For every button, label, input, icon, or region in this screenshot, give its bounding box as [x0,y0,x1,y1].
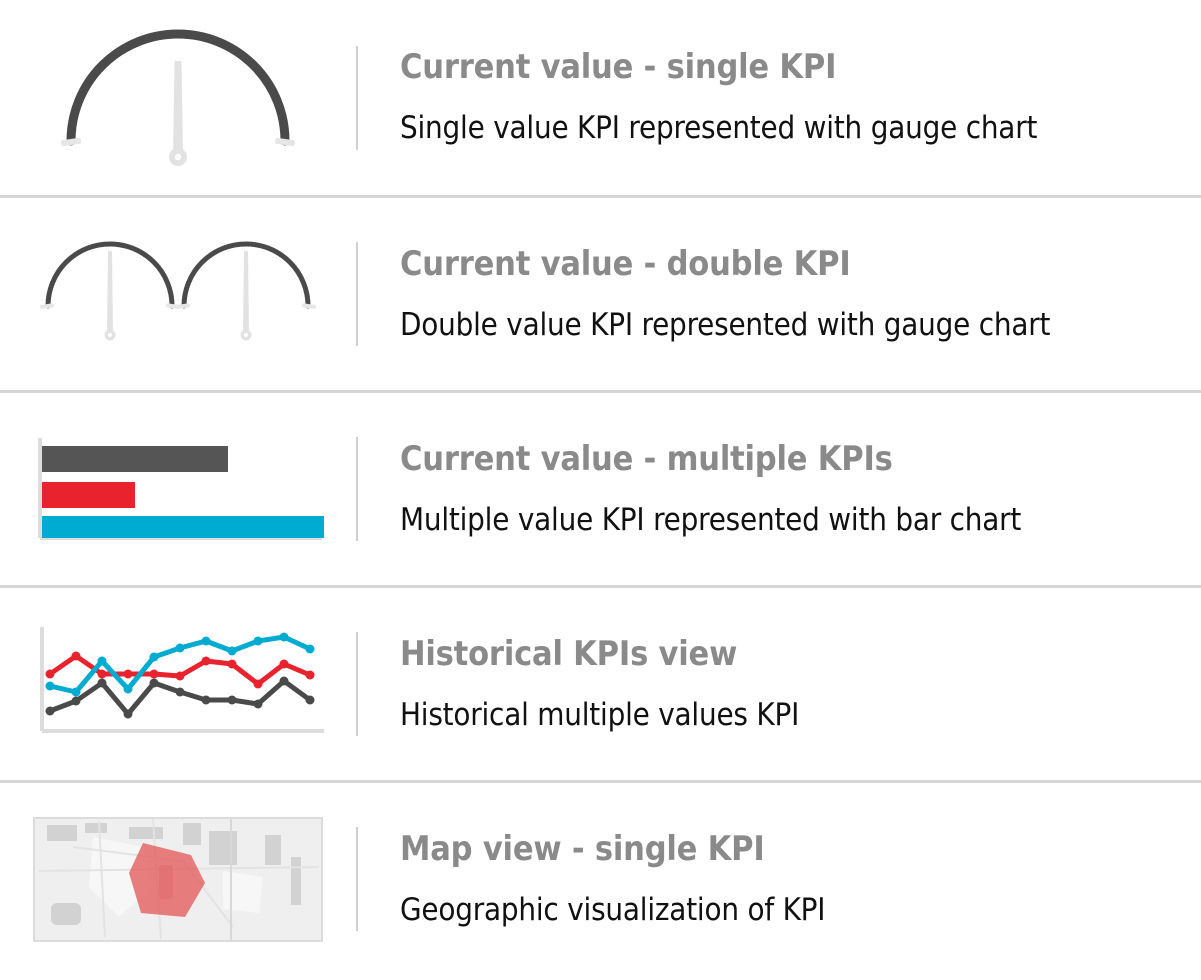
row-text-block: Current value - single KPI Single value … [358,46,1037,150]
row-description: Geographic visualization of KPI [400,894,825,927]
list-item[interactable]: Map view - single KPI Geographic visuali… [0,780,1201,975]
page-title: Map view - single KPI [400,832,825,868]
row-text-block: Map view - single KPI Geographic visuali… [358,827,825,931]
page-title: Historical KPIs view [400,637,799,673]
bar-chart-icon [0,392,356,587]
page-title: Current value - multiple KPIs [400,442,1021,478]
kpi-visualization-list: Current value - single KPI Single value … [0,0,1201,975]
map-icon [0,782,356,977]
gauge-double-icon [0,197,356,392]
row-text-block: Historical KPIs view Historical multiple… [358,632,799,736]
row-description: Double value KPI represented with gauge … [400,309,1050,342]
list-item[interactable]: Current value - multiple KPIs Multiple v… [0,390,1201,585]
page-title: Current value - single KPI [400,50,1037,86]
row-description: Multiple value KPI represented with bar … [400,504,1021,537]
row-text-block: Current value - double KPI Double value … [358,242,1050,346]
row-text-block: Current value - multiple KPIs Multiple v… [358,437,1021,541]
line-chart-icon [0,587,356,782]
gauge-single-icon [0,0,356,195]
row-description: Historical multiple values KPI [400,699,799,732]
page-title: Current value - double KPI [400,247,1050,283]
list-item[interactable]: Current value - double KPI Double value … [0,195,1201,390]
row-description: Single value KPI represented with gauge … [400,112,1037,145]
list-item[interactable]: Historical KPIs view Historical multiple… [0,585,1201,780]
list-item[interactable]: Current value - single KPI Single value … [0,0,1201,195]
